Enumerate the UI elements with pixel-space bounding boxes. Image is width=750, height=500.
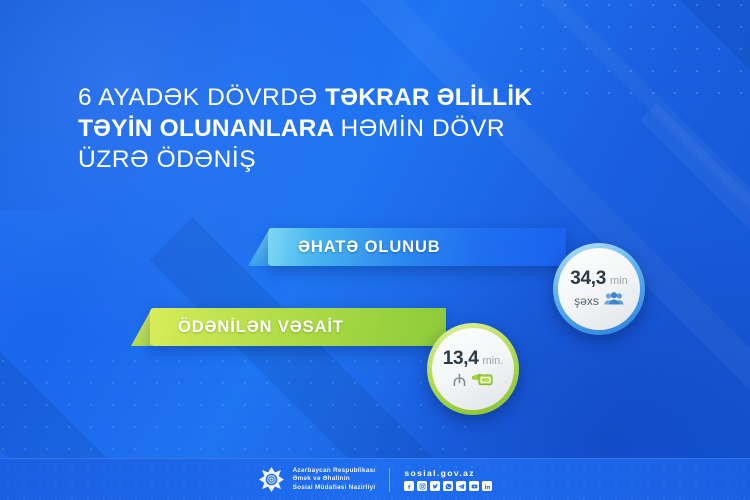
whatsapp-icon[interactable] — [443, 481, 453, 491]
headline-text-bold: TƏYİN OLUNANLARA — [78, 115, 341, 142]
stat-badge-coverage: 34,3 min şəxs — [553, 243, 645, 335]
footer-divider — [389, 468, 390, 492]
stat-badge-sub-row: ₼ — [453, 372, 494, 390]
twitter-icon[interactable] — [430, 481, 440, 491]
diagonal-shade — [640, 0, 750, 500]
stat-bar-label: ƏHATƏ OLUNUB — [298, 238, 441, 257]
manat-currency-icon: ₼ — [453, 372, 467, 389]
headline-line-1: 6 AYADƏK DÖVRDƏ TƏKRAR ƏLİLLİK — [78, 82, 698, 113]
money-card-icon — [471, 372, 493, 390]
stat-badge-sub: şəxs — [574, 295, 599, 307]
stat-bar-coverage: ƏHATƏ OLUNUB — [268, 228, 566, 266]
stat-badge-value-row: 34,3 min — [570, 269, 628, 288]
stat-badge-value: 34,3 — [570, 269, 606, 288]
glow-top-left — [0, 0, 400, 360]
headline: 6 AYADƏK DÖVRDƏ TƏKRAR ƏLİLLİK TƏYİN OLU… — [78, 82, 698, 175]
headline-text-light: HƏMİN DÖVR — [341, 115, 506, 142]
site-block: sosial.gov.az — [404, 468, 492, 491]
stat-badge-payments: 13,4 min. ₼ — [427, 323, 519, 415]
stat-badge-inner: 13,4 min. ₼ — [432, 328, 514, 410]
stat-badge-value-row: 13,4 min. — [443, 349, 504, 368]
instagram-icon[interactable] — [417, 481, 427, 491]
headline-line-2: TƏYİN OLUNANLARA HƏMİN DÖVR — [78, 113, 698, 144]
ministry-name: Azərbaycan Respublikası Əmək və Əhalinin… — [293, 467, 376, 492]
social-links — [404, 481, 492, 491]
eight-pointed-star-emblem-icon — [258, 466, 285, 493]
people-icon — [604, 292, 624, 309]
facebook-icon[interactable] — [404, 481, 414, 491]
ministry-brand: Azərbaycan Respublikası Əmək və Əhalinin… — [258, 466, 376, 493]
stat-badge-unit: min — [610, 276, 628, 287]
headline-text-bold: TƏKRAR ƏLİLLİK — [325, 84, 532, 111]
ministry-line-1: Azərbaycan Respublikası — [293, 467, 376, 475]
infographic-poster: 6 AYADƏK DÖVRDƏ TƏKRAR ƏLİLLİK TƏYİN OLU… — [0, 0, 750, 500]
stat-badge-value: 13,4 — [443, 349, 479, 368]
linkedin-icon[interactable] — [482, 481, 492, 491]
bar-tab-green — [131, 308, 152, 346]
stat-bar-label: ÖDƏNİLƏN VƏSAİT — [178, 318, 344, 337]
ministry-line-2: Əmək və Əhalinin — [293, 475, 376, 483]
bar-tab-blue — [248, 228, 270, 266]
website-url[interactable]: sosial.gov.az — [404, 468, 492, 478]
stat-bar-payments: ÖDƏNİLƏN VƏSAİT — [150, 308, 446, 346]
stat-badge-unit: min. — [483, 356, 504, 367]
stat-badge-inner: 34,3 min şəxs — [558, 248, 640, 330]
telegram-icon[interactable] — [456, 481, 466, 491]
stat-badge-sub-row: şəxs — [574, 292, 624, 309]
footer-bar: Azərbaycan Respublikası Əmək və Əhalinin… — [0, 458, 750, 500]
ministry-line-3: Sosial Müdafiəsi Nazirliyi — [293, 484, 376, 492]
headline-line-3: ÜZRƏ ÖDƏNİŞ — [78, 144, 698, 175]
youtube-icon[interactable] — [469, 481, 479, 491]
headline-text-light: 6 AYADƏK DÖVRDƏ — [78, 84, 325, 111]
headline-text-light: ÜZRƏ ÖDƏNİŞ — [78, 146, 256, 173]
